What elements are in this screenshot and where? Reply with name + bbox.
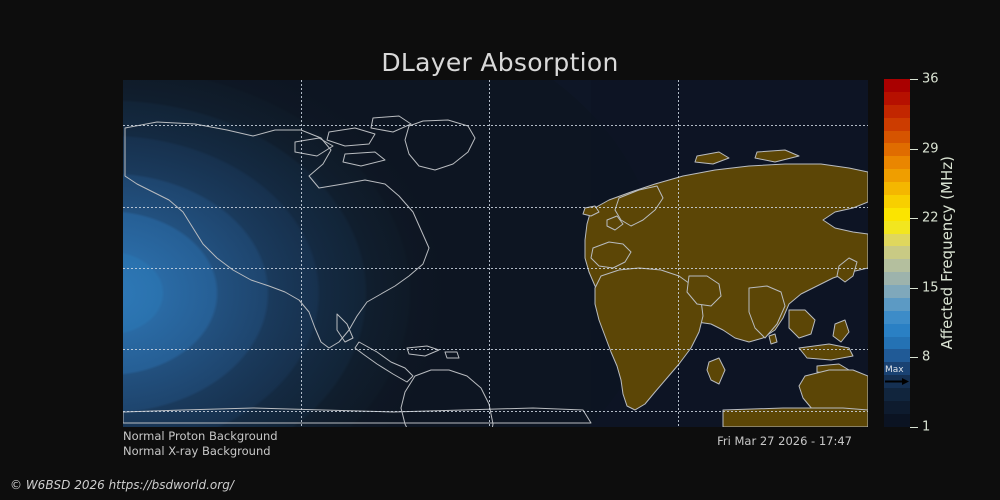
map-canvas [123,80,868,427]
page-title: DLayer Absorption [0,48,1000,77]
colorbar-segment [884,324,910,337]
world-map[interactable] [123,80,868,427]
colorbar-segment [884,105,910,118]
colorbar-segment [884,259,910,272]
colorbar-segment [884,221,910,234]
colorbar-segment [884,92,910,105]
colorbar-segment [884,272,910,285]
dlayer-absorption-page: DLayer Absorption [0,0,1000,500]
colorbar-axis-label-text: Affected Frequency (MHz) [938,156,956,350]
colorbar-segment [884,195,910,208]
colorbar-tick-mark [910,427,918,428]
colorbar-segment [884,349,910,362]
colorbar-segment [884,118,910,131]
colorbar-max-marker: Max [884,366,910,388]
colorbar-segment [884,79,910,92]
colorbar-tick-mark [910,79,918,80]
colorbar-tick-mark [910,357,918,358]
colorbar-segment [884,401,910,414]
colorbar-segment [884,337,910,350]
colorbar-segment [884,143,910,156]
colorbar-segment [884,131,910,144]
colorbar-segment [884,414,910,427]
max-arrow-icon [885,378,909,385]
colorbar-axis-label: Affected Frequency (MHz) [935,79,959,427]
colorbar-segment [884,298,910,311]
colorbar-tick-label: 1 [922,420,930,435]
colorbar-segment [884,182,910,195]
colorbar-segment [884,388,910,401]
colorbar-segment [884,169,910,182]
colorbar-segment [884,246,910,259]
colorbar-tick-label: 8 [922,350,930,365]
colorbar-segment [884,311,910,324]
max-marker-label: Max [885,365,904,375]
colorbar-tick-mark [910,218,918,219]
credit-line: © W6BSD 2026 https://bsdworld.org/ [10,478,234,492]
colorbar-segment [884,156,910,169]
colorbar-tick-mark [910,288,918,289]
colorbar-tick-mark [910,149,918,150]
colorbar-segment [884,208,910,221]
colorbar-segment [884,285,910,298]
colorbar-segment [884,234,910,247]
timestamp: Fri Mar 27 2026 - 17:47 [0,434,852,448]
